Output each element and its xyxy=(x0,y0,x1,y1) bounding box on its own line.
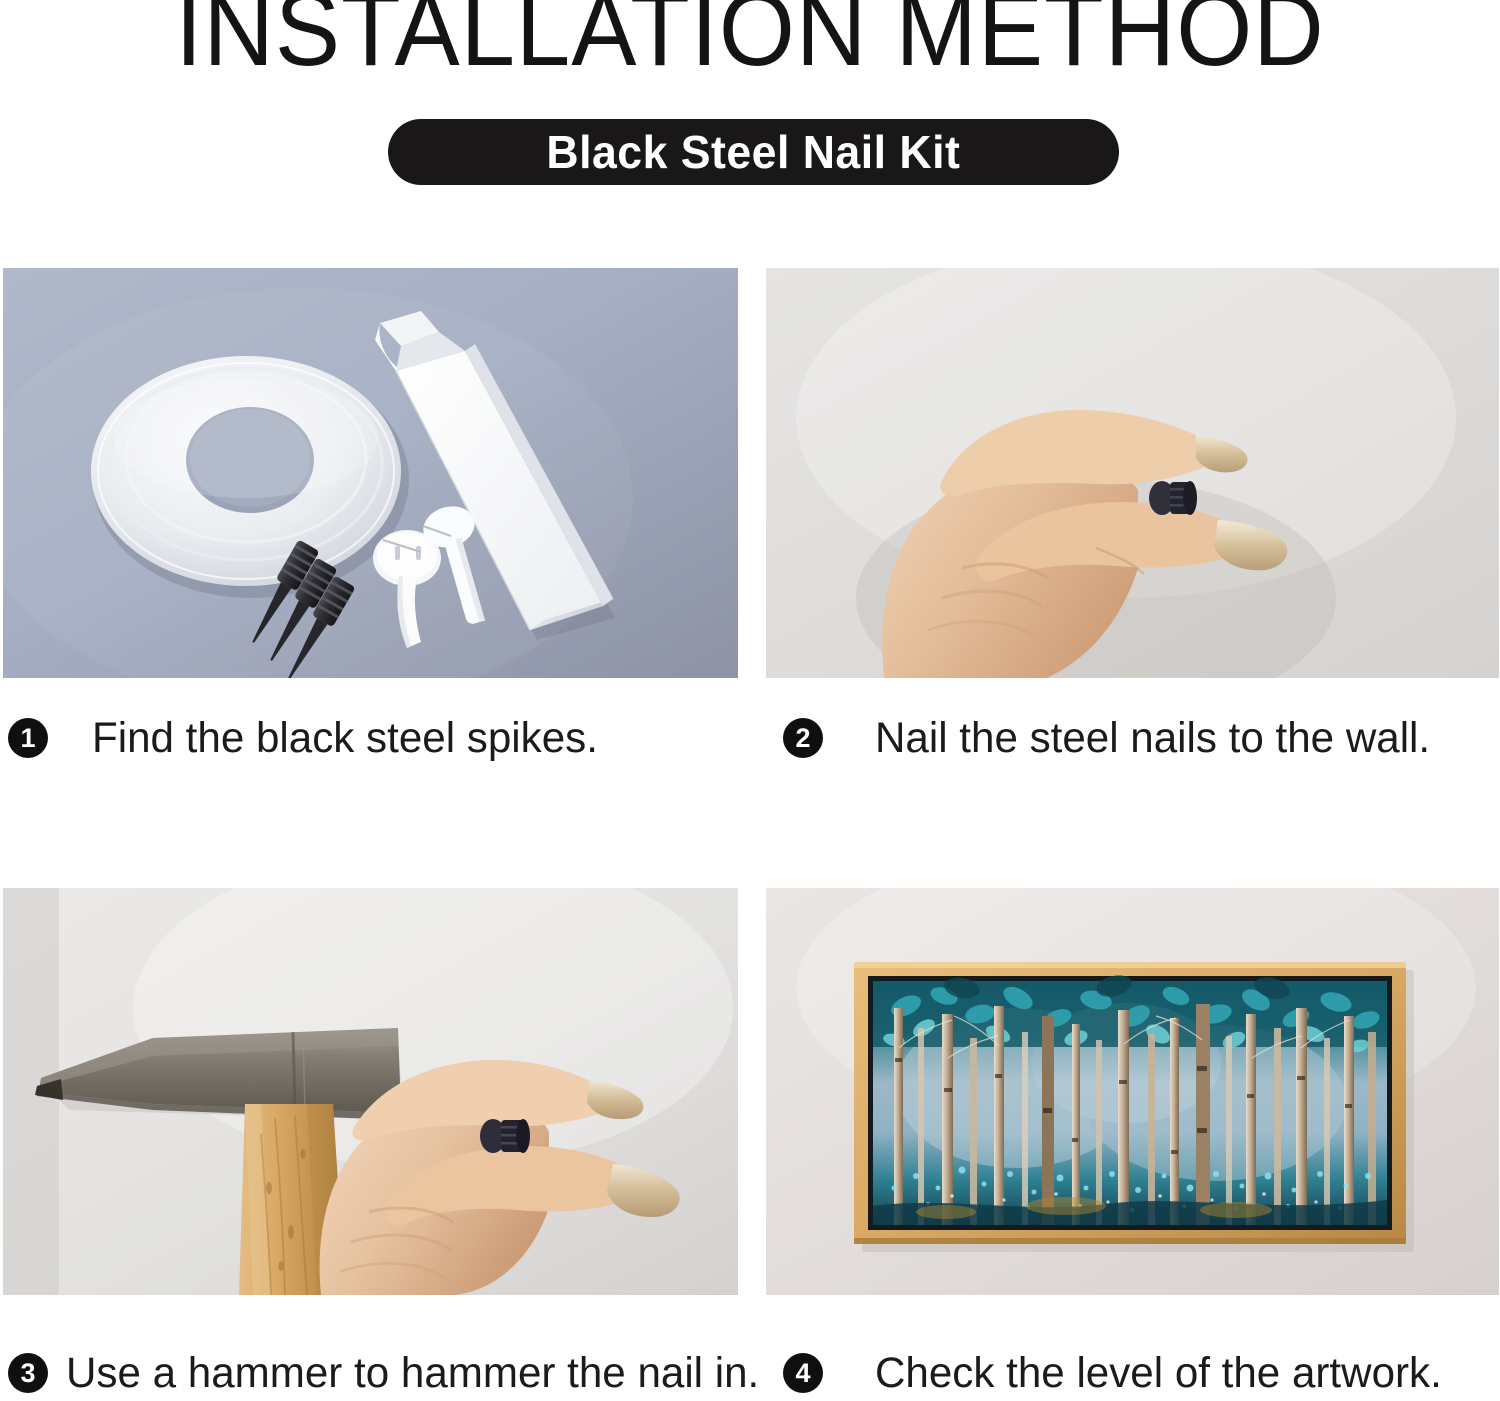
step-number-badge-4: 4 xyxy=(783,1353,823,1393)
product-badge: Black Steel Nail Kit xyxy=(388,119,1119,185)
step-1-caption: 1 Find the black steel spikes. xyxy=(8,710,608,766)
step-caption-text-1: Find the black steel spikes. xyxy=(92,715,598,761)
step-number-badge-3: 3 xyxy=(8,1353,48,1393)
step-caption-text-2: Nail the steel nails to the wall. xyxy=(875,715,1430,761)
kit-components-illustration xyxy=(3,268,738,678)
hammer-illustration xyxy=(3,888,738,1295)
step-number-badge-2: 2 xyxy=(783,718,823,758)
hand-holding-nail-illustration xyxy=(766,268,1499,678)
step-caption-text-3: Use a hammer to hammer the nail in. xyxy=(66,1350,759,1396)
product-badge-label: Black Steel Nail Kit xyxy=(547,129,961,175)
step-3-caption: 3 Use a hammer to hammer the nail in. xyxy=(8,1345,773,1401)
step-number-badge-1: 1 xyxy=(8,718,48,758)
step-2-photo xyxy=(766,268,1499,678)
step-4-photo xyxy=(766,888,1499,1295)
page-title: INSTALLATION METHOD xyxy=(45,0,1455,82)
step-1-photo xyxy=(3,268,738,678)
step-4-caption: 4 Check the level of the artwork. xyxy=(783,1345,1453,1401)
step-2-caption: 2 Nail the steel nails to the wall. xyxy=(783,710,1441,766)
step-caption-text-4: Check the level of the artwork. xyxy=(875,1350,1442,1396)
infographic-root: INSTALLATION METHOD Black Steel Nail Kit xyxy=(0,0,1500,1401)
step-3-photo xyxy=(3,888,738,1295)
framed-artwork-illustration xyxy=(766,888,1499,1295)
